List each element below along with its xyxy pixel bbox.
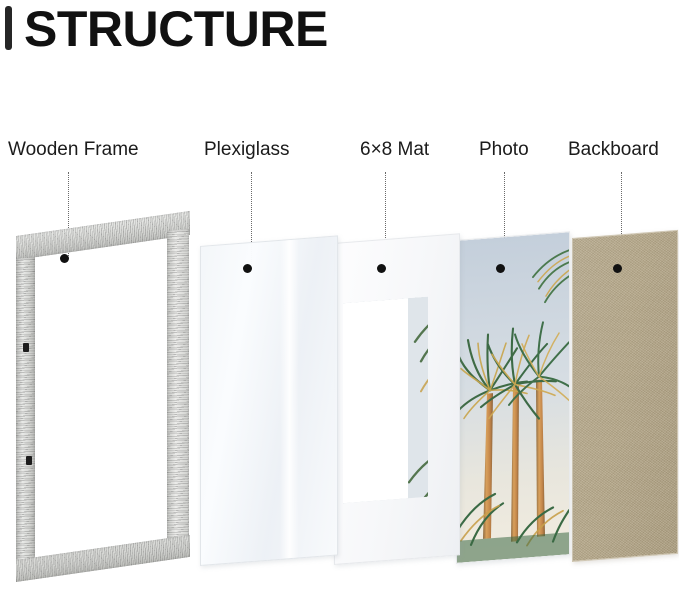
leader-dot-backboard <box>613 264 622 273</box>
mat-window-blank-area <box>343 298 408 503</box>
mat-window-opening <box>343 297 428 504</box>
layer-photo <box>456 231 570 564</box>
frame-clip-upper <box>23 343 29 352</box>
leader-dot-wooden-frame <box>60 254 69 263</box>
frame-clip-lower <box>26 456 32 465</box>
frame-rail-left <box>16 257 35 572</box>
frame-rail-right <box>167 229 189 545</box>
layer-plexiglass <box>200 235 338 566</box>
leader-dot-plexiglass <box>243 264 252 273</box>
layer-mat <box>334 233 460 565</box>
frame-rail-bottom <box>16 535 190 582</box>
exploded-diagram <box>0 0 679 605</box>
leader-dot-mat <box>377 264 386 273</box>
layer-backboard <box>572 230 678 562</box>
palm-photo-artwork <box>457 232 569 563</box>
plexiglass-gloss-highlight <box>280 239 299 558</box>
layer-wooden-frame <box>12 224 192 584</box>
frame-rail-top <box>16 211 190 260</box>
leader-dot-photo <box>496 264 505 273</box>
